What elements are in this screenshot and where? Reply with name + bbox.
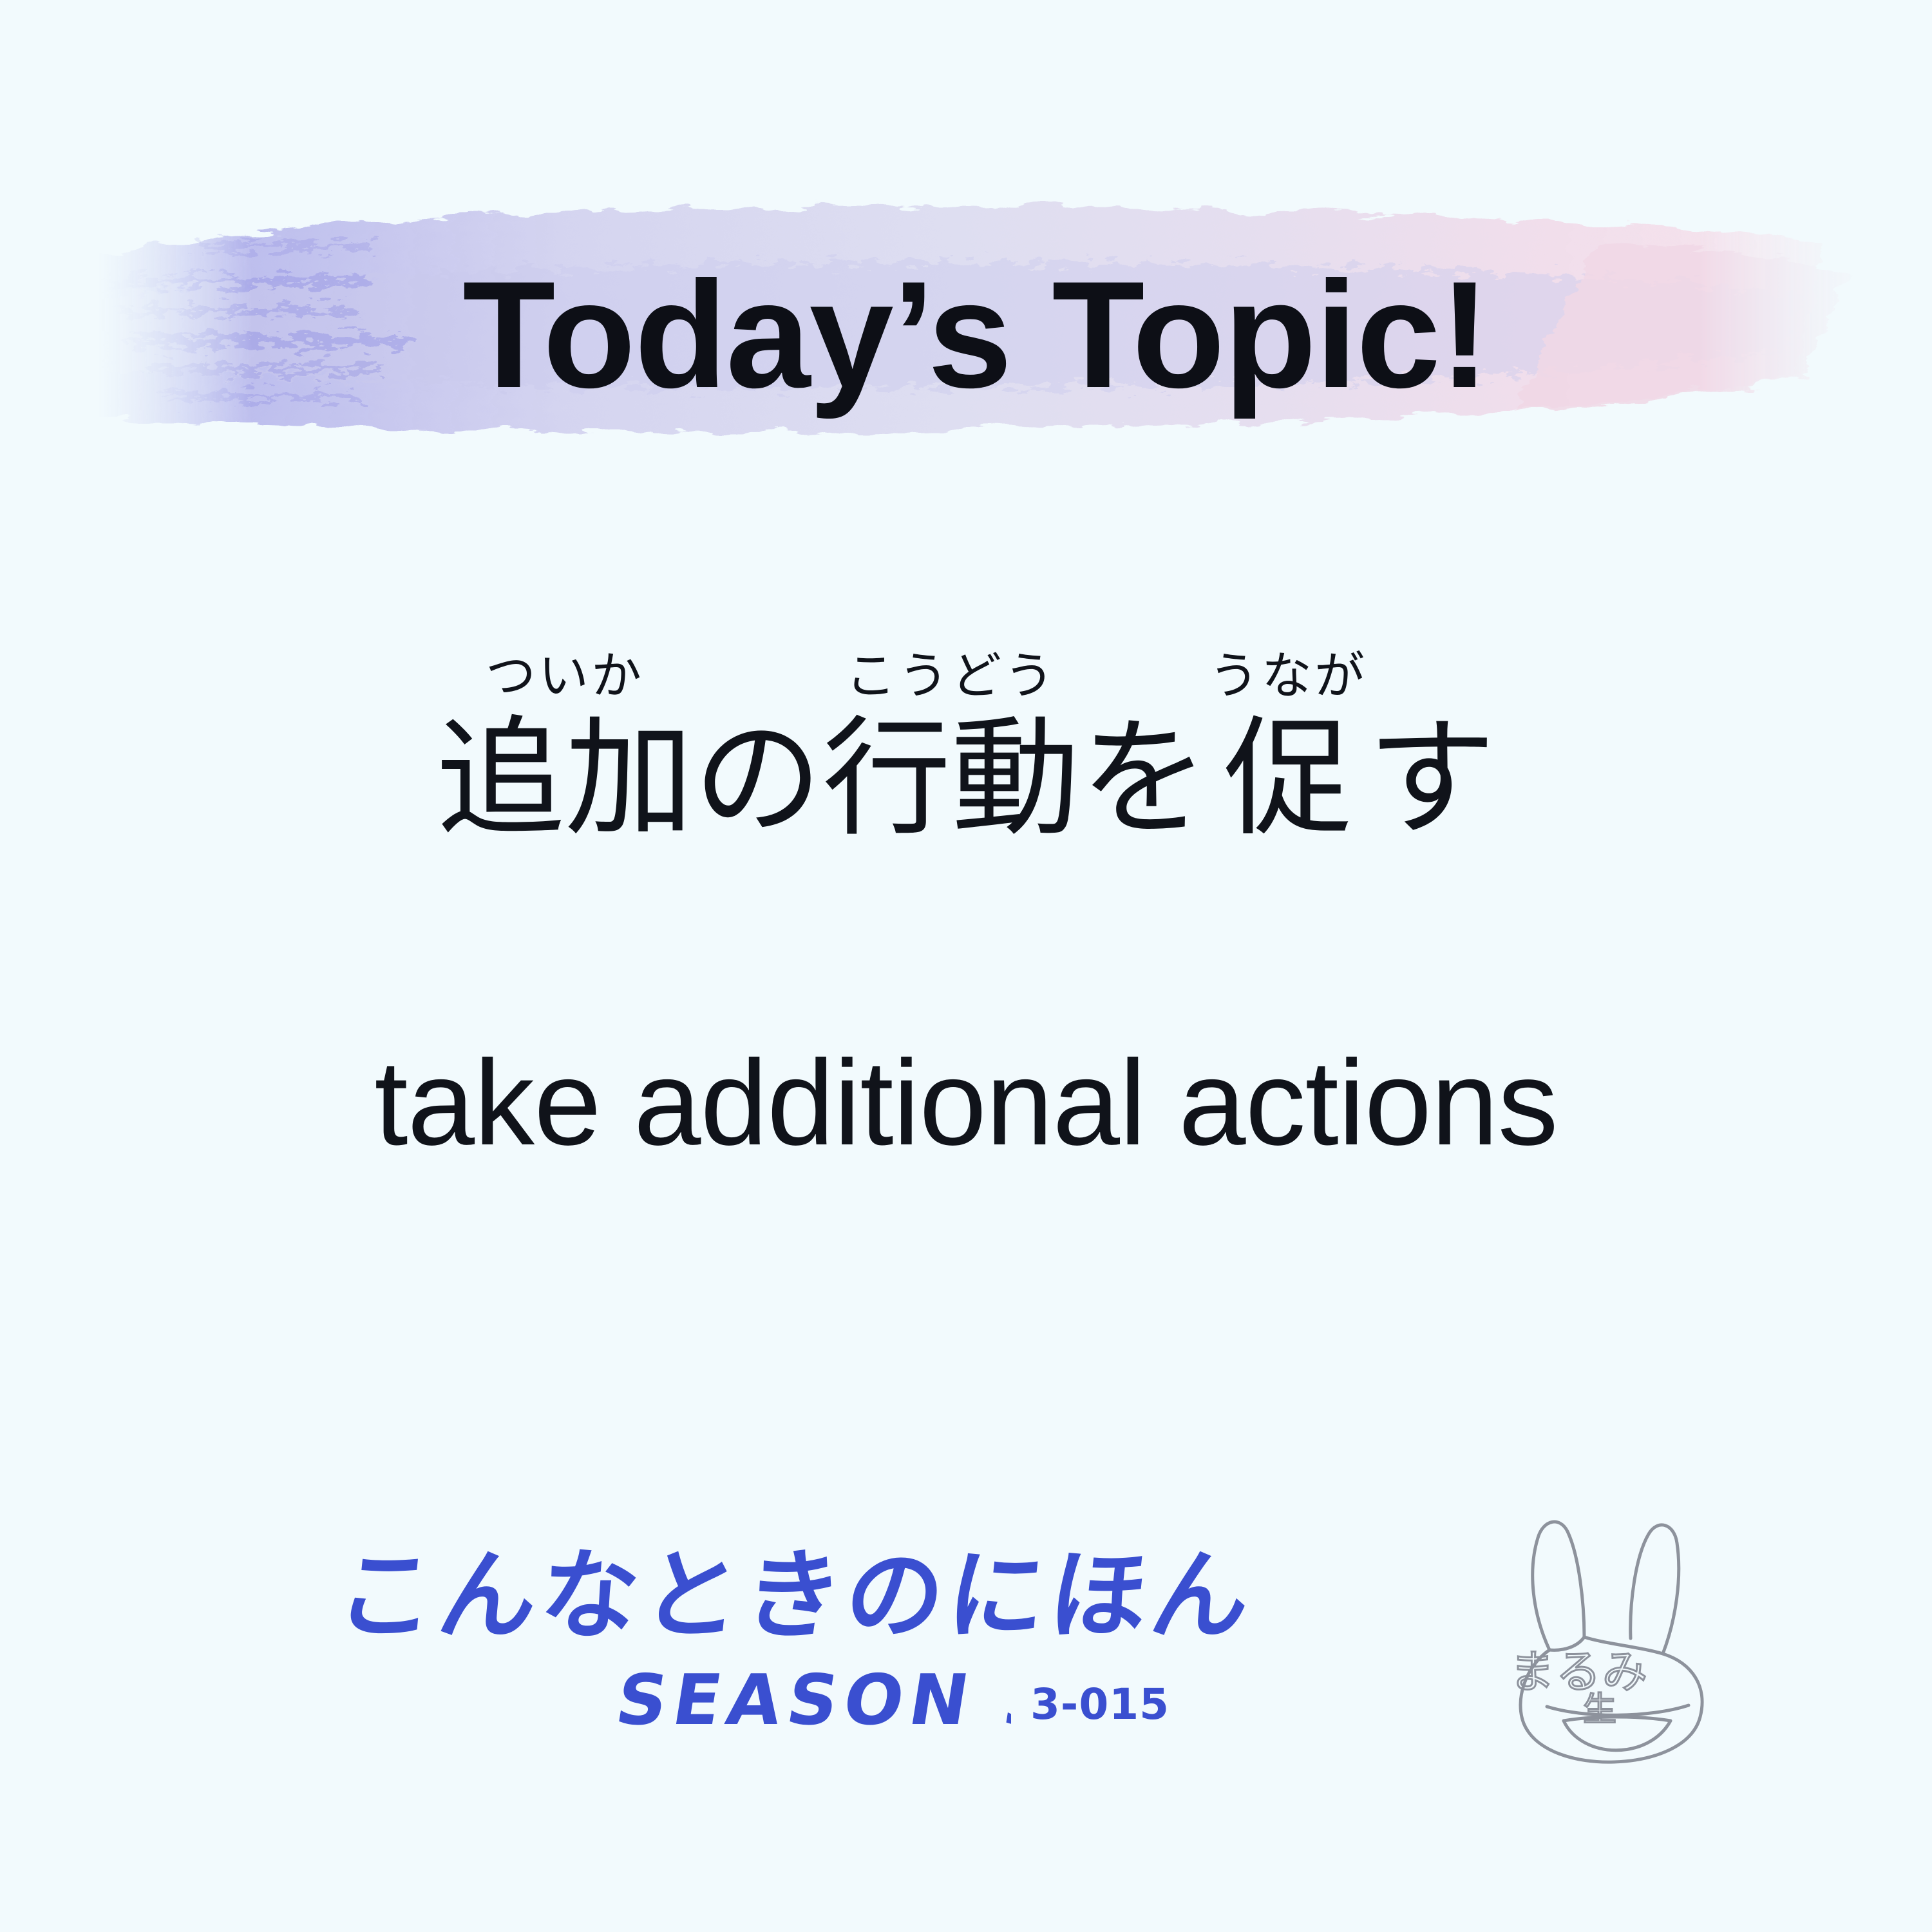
english-translation: take additional actions <box>0 1030 1932 1176</box>
ruby-group-wo: を <box>1080 650 1209 849</box>
furigana-tsuika: ついか <box>486 650 644 710</box>
rabbit-ear-left <box>1533 1522 1584 1650</box>
furigana-koudou: こうどう <box>846 650 1057 710</box>
rabbit-ear-right <box>1631 1525 1679 1654</box>
season-label-text: SEASON 3 <box>612 1660 1011 1741</box>
slide-canvas: Today’s Topic! ついか 追加 の こうどう 行動 を うなが <box>0 0 1932 1932</box>
rabbit-sub-text: 生 <box>1583 1690 1616 1729</box>
kana-su: す <box>1367 710 1496 849</box>
rabbit-mouth-open <box>1564 1717 1671 1750</box>
rabbit-name-text: まるみ <box>1510 1645 1649 1698</box>
kanji-unagasu: 促 <box>1224 710 1352 849</box>
rabbit-mascot-icon: まるみ 生 <box>1488 1494 1732 1765</box>
rabbit-mouth-top <box>1547 1705 1689 1715</box>
kana-wo: を <box>1080 710 1209 849</box>
season-label: SEASON 3 <box>612 1652 1011 1748</box>
series-logo: こんなときのにほんご。 SEASON 3 3-015 まるみ <box>335 1533 1623 1803</box>
kana-no: の <box>694 710 822 849</box>
ruby-group-su: す <box>1367 650 1496 849</box>
ruby-group-no: の <box>694 650 822 849</box>
kanji-koudou: 行動 <box>822 710 1080 849</box>
ruby-run: ついか 追加 の こうどう 行動 を うなが 促 す <box>436 650 1496 849</box>
episode-code: 3-015 <box>1030 1680 1170 1729</box>
brand-wordmark-text: こんなときのにほんご。 <box>335 1539 1249 1653</box>
ruby-group-koudou: こうどう 行動 <box>822 650 1080 849</box>
topic-banner: Today’s Topic! <box>0 180 1932 489</box>
kanji-tsuika: 追加 <box>436 710 694 849</box>
brand-wordmark: こんなときのにほんご。 <box>335 1533 1249 1655</box>
japanese-phrase: ついか 追加 の こうどう 行動 を うなが 促 す <box>0 650 1932 849</box>
ruby-group-unaga: うなが 促 <box>1209 650 1367 849</box>
page-title: Today’s Topic! <box>0 180 1932 489</box>
furigana-unagasu: うなが <box>1209 650 1367 710</box>
ruby-group-tsuika: ついか 追加 <box>436 650 694 849</box>
